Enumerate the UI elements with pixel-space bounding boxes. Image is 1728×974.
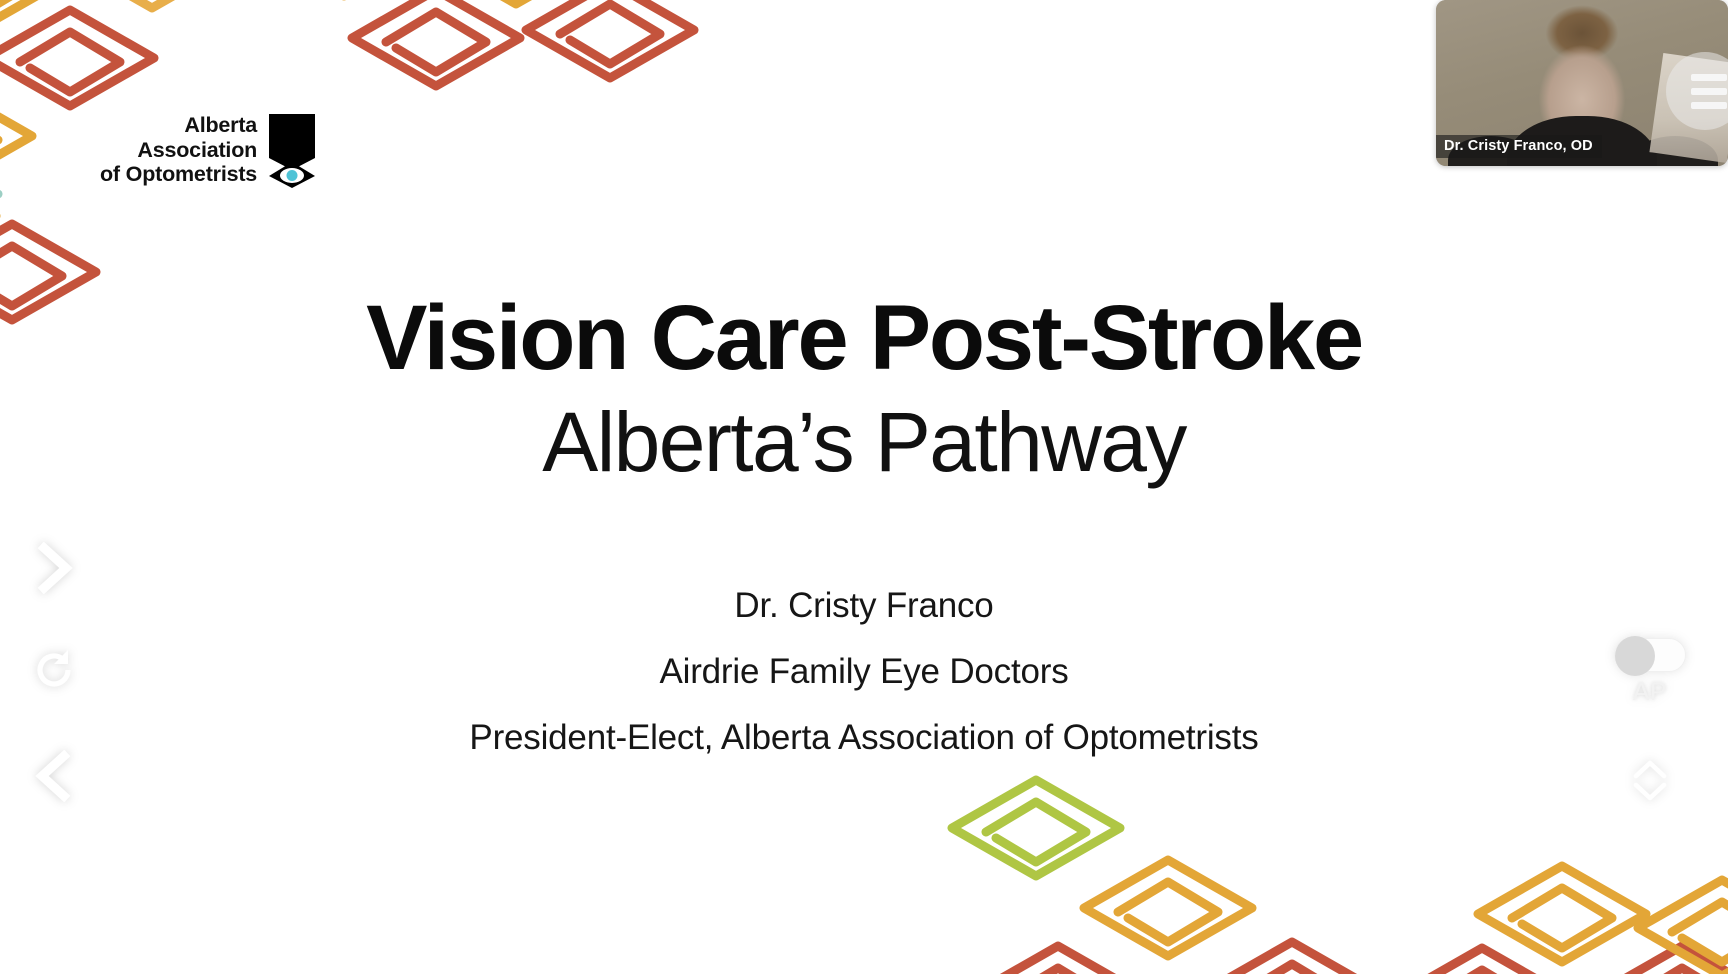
previous-slide-button[interactable] (26, 744, 82, 808)
autoplay-control[interactable]: AP (1608, 638, 1692, 707)
logo-line-1: Alberta (100, 113, 257, 138)
presenter-video-thumbnail[interactable]: Dr. Cristy Franco, OD (1436, 0, 1728, 166)
decorative-pattern-bottom-right (938, 770, 1728, 974)
presenter-name: Dr. Cristy Franco (0, 588, 1728, 623)
reload-button[interactable] (24, 640, 84, 700)
scroll-updown-control[interactable] (1622, 752, 1678, 808)
hamburger-menu-icon (1691, 74, 1727, 109)
presenter-affiliation: Airdrie Family Eye Doctors (0, 654, 1728, 689)
presenter-block: Dr. Cristy Franco Airdrie Family Eye Doc… (0, 588, 1728, 755)
autoplay-toggle[interactable] (1614, 638, 1686, 672)
chevron-up-down-icon (1628, 756, 1672, 804)
autoplay-label: AP (1633, 678, 1668, 707)
autoplay-toggle-knob (1615, 636, 1655, 676)
presenter-role: President-Elect, Alberta Association of … (0, 720, 1728, 755)
slide-title-main: Vision Care Post-Stroke (0, 290, 1728, 387)
slide-title-subtitle: Alberta’s Pathway (0, 393, 1728, 492)
title-block: Vision Care Post-Stroke Alberta’s Pathwa… (0, 290, 1728, 492)
logo-line-3: of Optometrists (100, 162, 257, 187)
next-slide-button[interactable] (26, 536, 82, 600)
logo-eye-mark-icon (267, 112, 317, 188)
chevron-right-icon (34, 542, 74, 594)
reload-icon (30, 646, 78, 694)
participant-name-label: Dr. Cristy Franco, OD (1436, 135, 1602, 158)
logo-line-2: Association (100, 138, 257, 163)
presentation-slide: Alberta Association of Optometrists Visi… (0, 0, 1728, 974)
aao-logo: Alberta Association of Optometrists (100, 112, 317, 188)
logo-wordmark: Alberta Association of Optometrists (100, 113, 257, 188)
chevron-left-icon (34, 750, 74, 802)
